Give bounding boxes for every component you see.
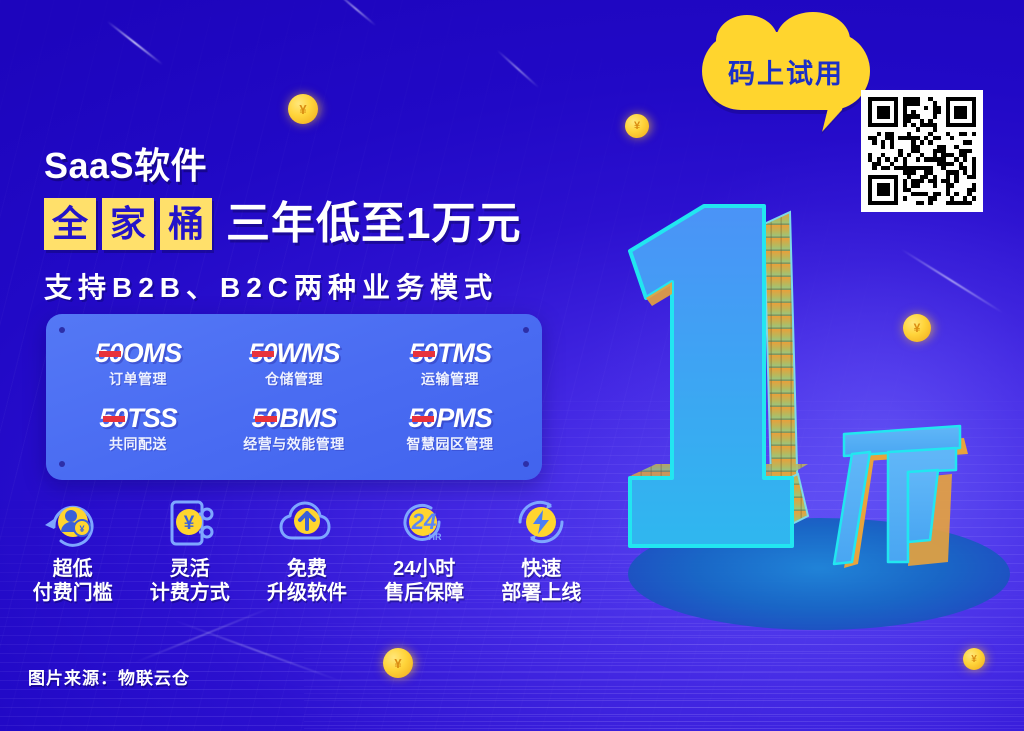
source-note: 图片来源：物联云仓 <box>28 664 190 689</box>
module-grid: 50OMS订单管理50WMS仓储管理50TMS运输管理50TSS共同配送50BM… <box>60 332 528 462</box>
feature-line2: 售后保障 <box>384 582 464 606</box>
module-name: 仓储管理 <box>265 369 323 389</box>
highlight-tile: 全 <box>44 198 96 250</box>
coin-icon: ¥ <box>625 114 649 138</box>
module-code-suffix: TMS <box>437 340 491 367</box>
feature-item-24h-support[interactable]: 24 HR 24小时 售后保障 <box>366 494 483 605</box>
module-code: 50OMS <box>95 340 182 367</box>
hero-number-graphic <box>612 186 1024 586</box>
feature-line1: 免费 <box>287 558 327 582</box>
lightning-bolt-icon <box>510 494 572 552</box>
module-code-prefix: 50 <box>248 340 276 367</box>
24hr-clock-icon: 24 HR <box>393 494 455 552</box>
coin-icon: ¥ <box>288 94 318 124</box>
feature-line1: 超低 <box>53 558 93 582</box>
module-name: 经营与效能管理 <box>243 434 345 454</box>
module-code-prefix: 50 <box>95 340 123 367</box>
brand-tagline: SaaS软件 <box>44 148 604 184</box>
module-name: 共同配送 <box>109 434 167 454</box>
module-item[interactable]: 50WMS仓储管理 <box>216 332 372 397</box>
bubble-label: 码上试用 <box>728 52 844 91</box>
feature-item-low-cost[interactable]: ¥ 超低 付费门槛 <box>14 494 131 605</box>
highlight-tiles: 全 家 桶 <box>44 198 212 250</box>
svg-text:HR: HR <box>429 532 442 542</box>
module-item[interactable]: 50TSS共同配送 <box>60 397 216 462</box>
module-item[interactable]: 50TMS运输管理 <box>372 332 528 397</box>
headline-block: SaaS软件 全 家 桶 三年低至1万元 支持B2B、B2C两种业务模式 <box>44 148 604 306</box>
module-code: 50TSS <box>99 405 177 432</box>
module-code: 50PMS <box>408 405 492 432</box>
try-now-bubble[interactable]: 码上试用 <box>702 32 870 110</box>
feature-line2: 部署上线 <box>501 582 581 606</box>
subheadline: 支持B2B、B2C两种业务模式 <box>44 266 604 306</box>
module-panel: 50OMS订单管理50WMS仓储管理50TMS运输管理50TSS共同配送50BM… <box>46 314 542 480</box>
module-code-prefix: 50 <box>409 340 437 367</box>
user-refresh-icon: ¥ <box>42 494 104 552</box>
feature-item-fast-deploy[interactable]: 快速 部署上线 <box>483 494 600 605</box>
headline: 三年低至1万元 <box>226 202 521 246</box>
module-code-suffix: OMS <box>123 340 182 367</box>
highlight-tile: 家 <box>102 198 154 250</box>
yen-document-icon: ¥ <box>159 494 221 552</box>
feature-line1: 24小时 <box>393 558 455 582</box>
svg-text:¥: ¥ <box>183 513 194 534</box>
module-item[interactable]: 50PMS智慧园区管理 <box>372 397 528 462</box>
feature-line1: 快速 <box>521 558 561 582</box>
module-code: 50BMS <box>251 405 336 432</box>
module-code-prefix: 50 <box>251 405 279 432</box>
svg-text:24: 24 <box>411 509 436 534</box>
cloud-upload-icon <box>276 494 338 552</box>
module-code-suffix: WMS <box>277 340 340 367</box>
module-code: 50TMS <box>409 340 491 367</box>
feature-item-flexible-billing[interactable]: ¥ 灵活 计费方式 <box>131 494 248 605</box>
module-item[interactable]: 50BMS经营与效能管理 <box>216 397 372 462</box>
module-item[interactable]: 50OMS订单管理 <box>60 332 216 397</box>
module-code-prefix: 50 <box>408 405 436 432</box>
feature-line1: 灵活 <box>170 558 210 582</box>
module-code-suffix: PMS <box>436 405 492 432</box>
feature-line2: 付费门槛 <box>33 582 113 606</box>
module-name: 运输管理 <box>421 369 479 389</box>
feature-line2: 计费方式 <box>150 582 230 606</box>
promo-banner: ¥ ¥ ¥ ¥ ¥ 码上试用 SaaS软件 全 家 桶 三年低至1万元 支持B2… <box>0 0 1024 731</box>
highlight-tile: 桶 <box>160 198 212 250</box>
feature-line2: 升级软件 <box>267 582 347 606</box>
module-code: 50WMS <box>248 340 339 367</box>
module-code-suffix: TSS <box>127 405 177 432</box>
svg-text:¥: ¥ <box>79 524 84 534</box>
module-code-suffix: BMS <box>280 405 337 432</box>
feature-item-free-upgrade[interactable]: 免费 升级软件 <box>248 494 365 605</box>
feature-list: ¥ 超低 付费门槛 ¥ 灵活 计费方式 <box>14 494 600 605</box>
coin-icon: ¥ <box>963 648 985 670</box>
coin-icon: ¥ <box>383 648 413 678</box>
module-code-prefix: 50 <box>99 405 127 432</box>
module-name: 智慧园区管理 <box>407 434 494 454</box>
module-name: 订单管理 <box>109 369 167 389</box>
